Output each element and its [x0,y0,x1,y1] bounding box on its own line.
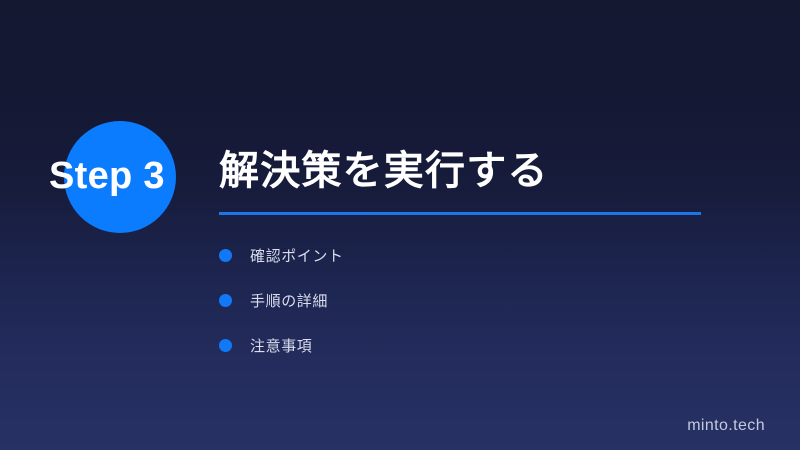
slide-title: 解決策を実行する [219,146,549,196]
bullet-dot-icon [219,339,232,352]
list-item-label: 確認ポイント [250,245,344,266]
footer-brand-label: minto.tech [687,417,765,435]
list-item: 手順の詳細 [219,278,679,323]
title-underline-rule [219,212,701,215]
slide-canvas: Step 3 解決策を実行する 確認ポイント 手順の詳細 注意事項 minto.… [0,0,800,450]
list-item: 確認ポイント [219,233,679,278]
bullet-list: 確認ポイント 手順の詳細 注意事項 [219,233,679,368]
bullet-dot-icon [219,249,232,262]
bullet-dot-icon [219,294,232,307]
step-badge-label: Step 3 [49,152,219,200]
list-item-label: 注意事項 [250,335,312,356]
list-item-label: 手順の詳細 [250,290,328,311]
list-item: 注意事項 [219,323,679,368]
